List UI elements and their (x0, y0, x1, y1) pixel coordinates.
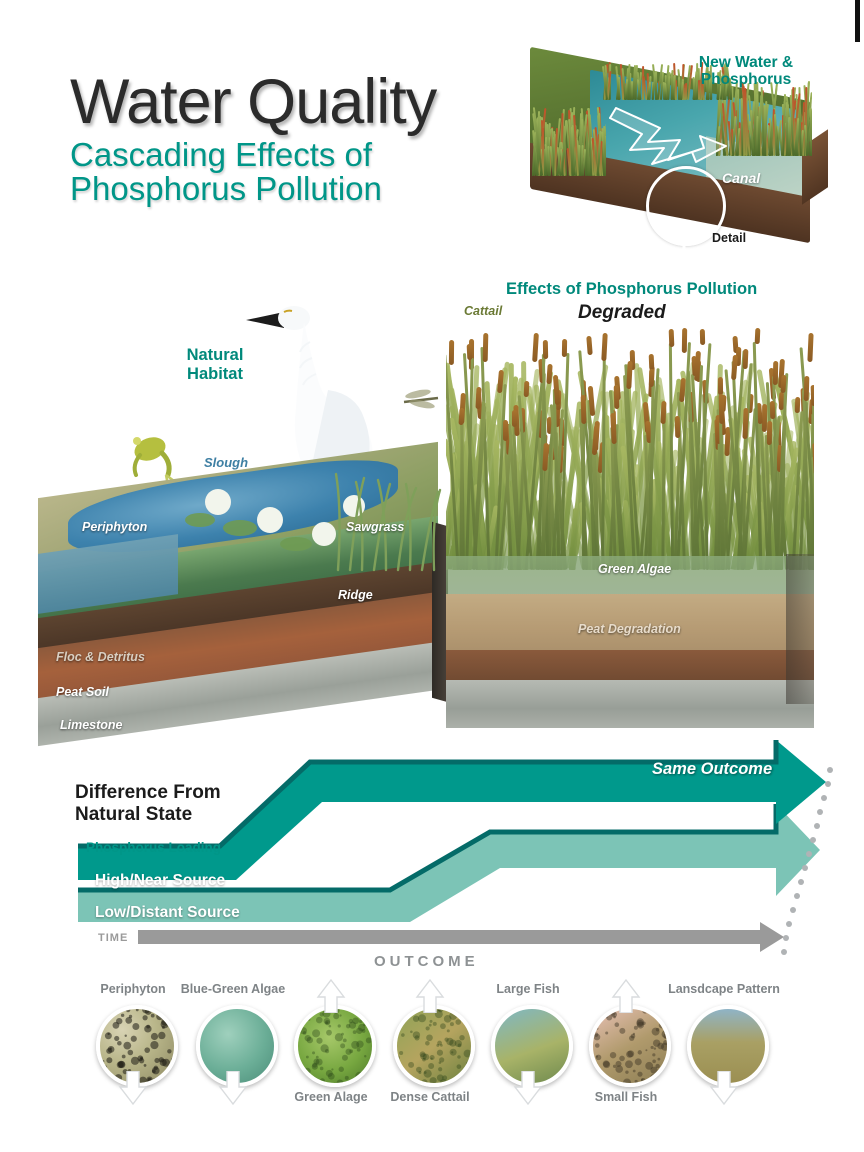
label-limestone: Limestone (60, 718, 123, 732)
outcome-item-label: Green Alage (294, 1090, 367, 1104)
degraded-limestone-layer (446, 680, 814, 728)
same-outcome-label: Same Outcome (652, 760, 772, 779)
label-green-algae: Green Algae (598, 562, 671, 576)
canal-reeds-left (532, 80, 606, 176)
natural-habitat-block: Periphyton Sawgrass Ridge Floc & Detritu… (28, 470, 448, 735)
subtitle-line-1: Cascading Effects of (70, 138, 540, 172)
high-near-source-label: High/Near Source (95, 872, 225, 890)
label-peat-soil: Peat Soil (56, 685, 109, 699)
dragonfly-illustration (398, 382, 444, 418)
label-periphyton: Periphyton (82, 520, 147, 534)
arrow-up-icon (611, 979, 641, 1013)
outcome-section-title: OUTCOME (374, 953, 479, 970)
label-detail: Detail (712, 231, 746, 245)
label-new-water-phosphorus: New Water & Phosphorus (676, 54, 816, 89)
phosphorus-loading-label: Phosphorus Loading (86, 840, 221, 855)
outcome-item-label: Blue-Green Algae (181, 982, 285, 996)
effects-heading: Effects of Phosphorus Pollution (506, 280, 757, 299)
subtitle-line-2: Phosphorus Pollution (70, 172, 540, 206)
cattail-stand (446, 320, 814, 570)
canal-diagram: New Water & Phosphorus Canal Detail (516, 46, 826, 256)
label-sawgrass: Sawgrass (346, 520, 404, 534)
page-edge-marker (855, 0, 860, 42)
green-algae-photo (294, 1005, 376, 1087)
time-axis-arrow (138, 922, 784, 952)
small-fish-photo (589, 1005, 671, 1087)
outcome-item-label: Large Fish (496, 982, 559, 996)
degraded-block-side-face (786, 554, 814, 704)
arrow-down-icon (513, 1071, 543, 1105)
outcome-item-label: Dense Cattail (390, 1090, 469, 1104)
sawgrass-illustration (328, 442, 448, 572)
title-block: Water Quality Cascading Effects of Phosp… (70, 72, 540, 206)
arrow-up-icon (415, 979, 445, 1013)
page-subtitle: Cascading Effects of Phosphorus Pollutio… (70, 138, 540, 207)
label-floc-detritus: Floc & Detritus (56, 650, 145, 664)
arrow-up-icon (316, 979, 346, 1013)
outcome-item-label: Small Fish (595, 1090, 658, 1104)
label-ridge: Ridge (338, 588, 373, 602)
difference-from-natural-state-label: Difference FromNatural State (75, 782, 221, 825)
page-title: Water Quality (70, 72, 540, 134)
degraded-habitat-block: Green Algae Peat Degradation (446, 470, 814, 735)
arrow-down-icon (118, 1071, 148, 1105)
arrow-down-icon (709, 1071, 739, 1105)
arrow-down-icon (218, 1071, 248, 1105)
outcome-item-label: Lansdcape Pattern (668, 982, 780, 996)
label-cattail: Cattail (464, 304, 502, 318)
label-canal: Canal (722, 170, 760, 186)
low-distant-source-label: Low/Distant Source (95, 904, 240, 922)
dense-cattail-photo (393, 1005, 475, 1087)
label-slough: Slough (204, 455, 248, 470)
time-axis-label: TIME (98, 932, 128, 944)
outcome-item-label: Periphyton (100, 982, 165, 996)
label-peat-degradation: Peat Degradation (578, 622, 681, 636)
